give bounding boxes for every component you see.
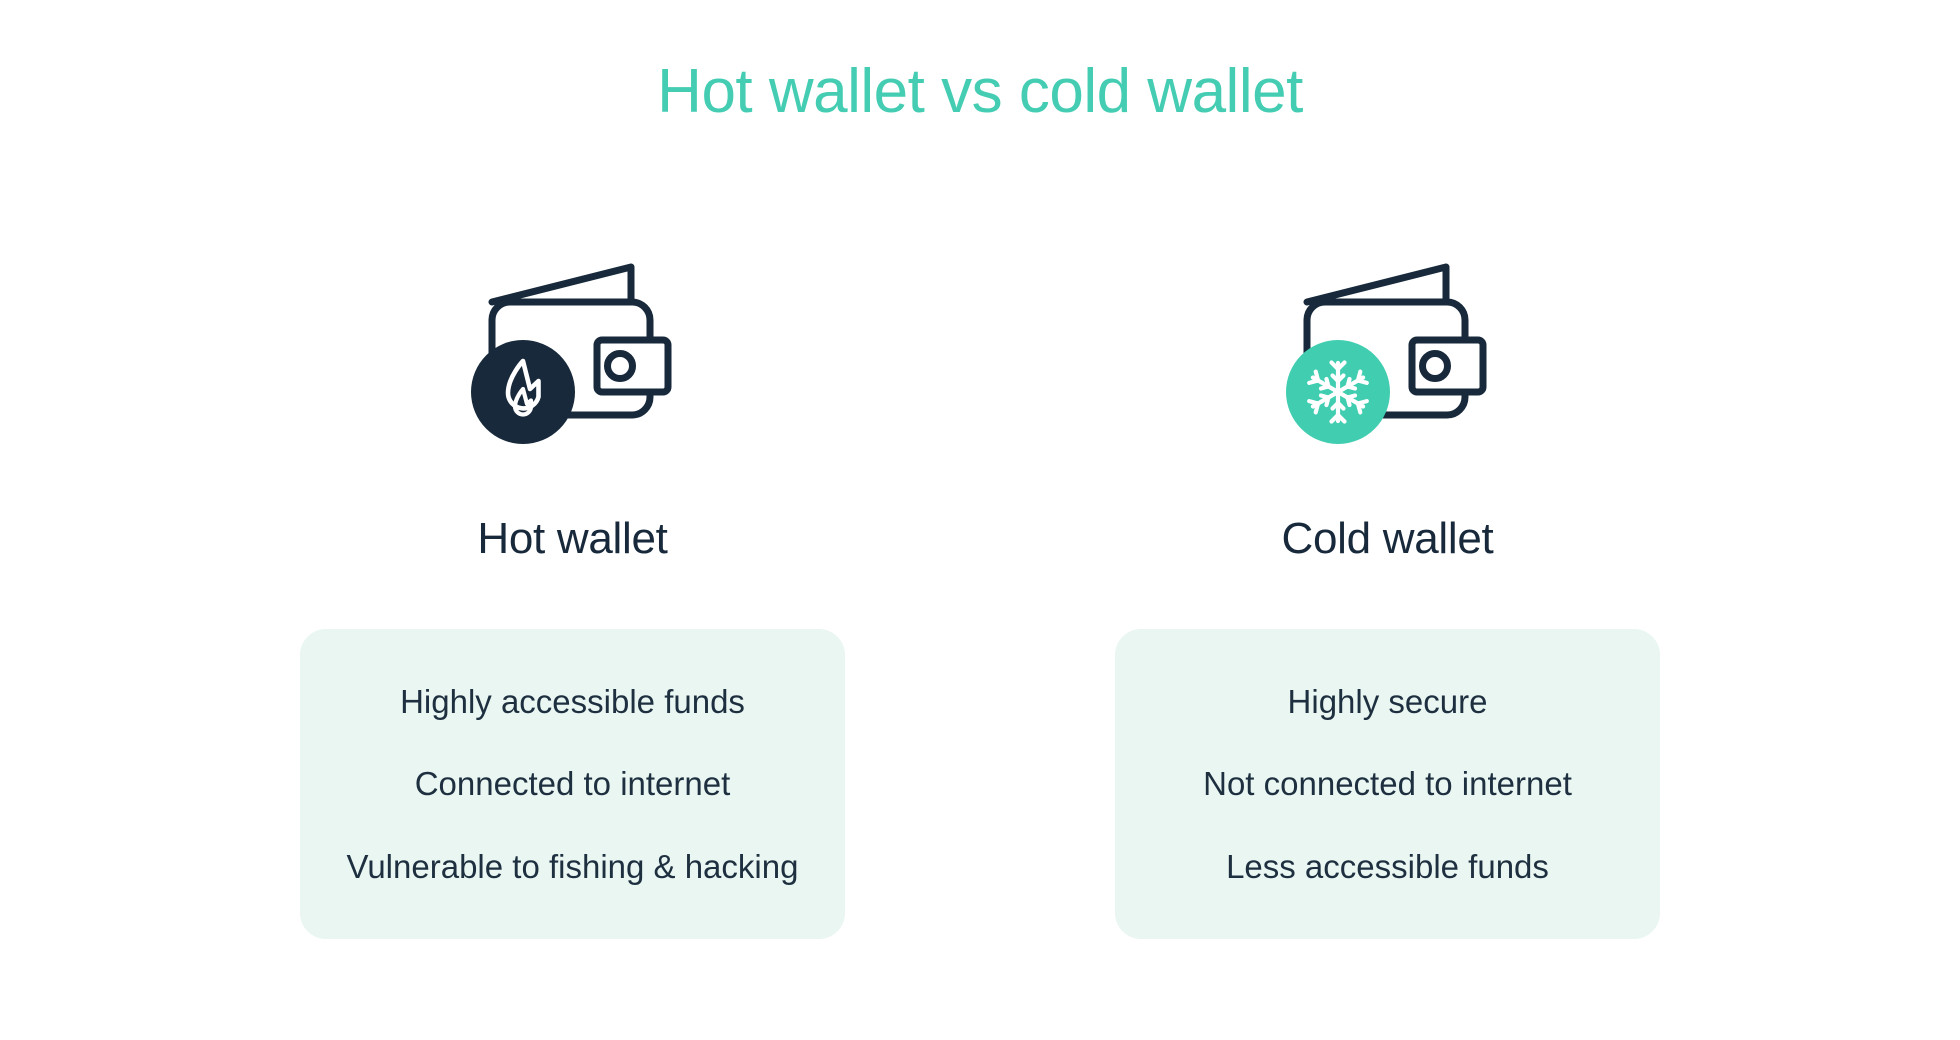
hot-wallet-icon: [468, 255, 678, 451]
feature-item: Connected to internet: [415, 763, 731, 804]
feature-card-hot: Highly accessible funds Connected to int…: [300, 629, 845, 939]
feature-item: Less accessible funds: [1226, 846, 1549, 887]
wallet-label-cold: Cold wallet: [1282, 517, 1494, 561]
column-cold-wallet: Cold wallet Highly secure Not connected …: [1115, 255, 1660, 939]
cold-wallet-icon: [1283, 255, 1493, 451]
page-title: Hot wallet vs cold wallet: [0, 58, 1960, 126]
feature-item: Highly accessible funds: [400, 681, 745, 722]
comparison-columns: Hot wallet Highly accessible funds Conne…: [0, 255, 1960, 939]
flame-badge: [471, 340, 575, 444]
infographic-root: Hot wallet vs cold wallet: [0, 0, 1960, 1040]
feature-item: Highly secure: [1288, 681, 1488, 722]
feature-item: Vulnerable to fishing & hacking: [347, 846, 799, 887]
feature-item: Not connected to internet: [1203, 763, 1572, 804]
column-hot-wallet: Hot wallet Highly accessible funds Conne…: [300, 255, 845, 939]
wallet-label-hot: Hot wallet: [477, 517, 667, 561]
snowflake-badge: [1286, 340, 1390, 444]
feature-card-cold: Highly secure Not connected to internet …: [1115, 629, 1660, 939]
